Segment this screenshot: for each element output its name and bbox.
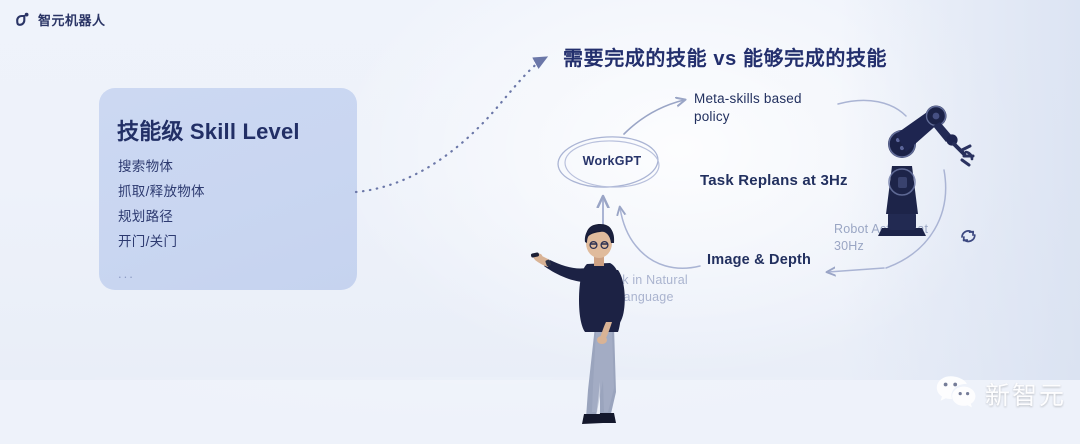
list-item: 规划路径 <box>118 204 205 229</box>
wechat-icon <box>935 374 977 413</box>
skill-card-list: 搜索物体 抓取/释放物体 规划路径 开门/关门 ... <box>118 154 205 286</box>
floor-sheen <box>0 377 1080 444</box>
watermark-text: 新智元 <box>985 376 1066 412</box>
label-task-natural-language: Task in Natural Language <box>585 272 705 306</box>
watermark: 新智元 <box>935 374 1066 413</box>
label-image-depth: Image & Depth <box>707 251 811 270</box>
label-task-replans: Task Replans at 3Hz <box>700 172 848 189</box>
skill-card-title: 技能级 Skill Level <box>117 114 300 146</box>
brand-name: 智元机器人 <box>38 10 106 29</box>
brand-logo: 智元机器人 <box>14 10 106 29</box>
skill-level-card: 技能级 Skill Level 搜索物体 抓取/释放物体 规划路径 开门/关门 … <box>99 88 357 290</box>
aglibot-logo-icon <box>14 11 31 28</box>
list-item: 开门/关门 <box>118 229 205 254</box>
slide-headline: 需要完成的技能 vs 能够完成的技能 <box>563 42 887 71</box>
list-item-ellipsis: ... <box>118 254 205 286</box>
workgpt-node-label: WorkGPT <box>572 154 652 168</box>
label-robot-actions: Robot Actions at 30Hz <box>834 221 954 255</box>
list-item: 抓取/释放物体 <box>118 179 205 204</box>
list-item: 搜索物体 <box>118 154 205 179</box>
screenshot-stage: 智元机器人 技能级 Skill Level 搜索物体 抓取/释放物体 规划路径 … <box>0 0 1080 444</box>
label-meta-skills: Meta-skills based policy <box>694 90 824 126</box>
